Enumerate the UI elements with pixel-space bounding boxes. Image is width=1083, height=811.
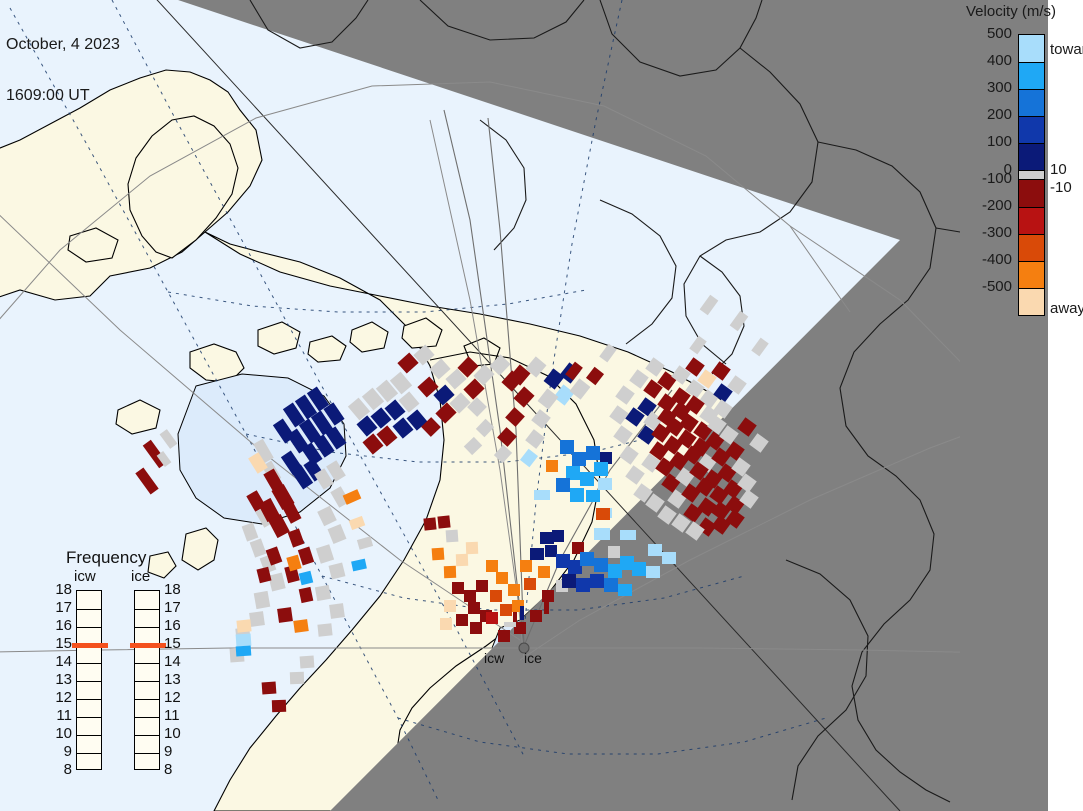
velocity-cell [608, 546, 620, 558]
velocity-cell [496, 572, 508, 584]
velocity-cell [290, 672, 304, 684]
colorbar-tick-neg200: -200 [966, 197, 1012, 214]
frequency-marker-ice [130, 643, 166, 648]
velocity-cell [520, 560, 532, 572]
frequency-tick-line [135, 681, 159, 682]
velocity-cell [470, 622, 482, 634]
velocity-cell [545, 545, 557, 557]
velocity-cell [508, 584, 520, 596]
velocity-cell [476, 580, 488, 592]
velocity-cell [568, 560, 582, 574]
velocity-cell [262, 682, 277, 695]
velocity-cell [556, 478, 570, 492]
velocity-cell [538, 566, 550, 578]
frequency-tick-line [77, 609, 101, 610]
colorbar-segment-0 [1019, 35, 1044, 62]
colorbar-segment-7 [1019, 207, 1044, 234]
frequency-tick-line [77, 627, 101, 628]
velocity-cell [444, 566, 456, 578]
velocity-cell [546, 460, 558, 472]
colorbar-tick-neg300: -300 [966, 224, 1012, 241]
frequency-tick-line [135, 699, 159, 700]
velocity-cell [236, 645, 252, 656]
frequency-scale-label-icw: 17 [50, 599, 72, 616]
frequency-marker-icw [72, 643, 108, 648]
colorbar-tick-neg100: -100 [966, 170, 1012, 187]
frequency-scale-label-icw: 13 [50, 671, 72, 688]
title-time: 1609:00 UT [6, 87, 120, 104]
velocity-cell [440, 618, 452, 630]
colorbar-segment-6 [1019, 179, 1044, 206]
colorbar-segment-10 [1019, 288, 1044, 315]
velocity-cell [277, 607, 293, 623]
superdarn-velocity-map: October, 4 2023 1609:00 UT icw ice Frequ… [0, 0, 1083, 811]
colorbar-segment-5 [1019, 170, 1044, 179]
velocity-cell [576, 578, 590, 592]
frequency-scale-label-icw: 18 [50, 581, 72, 598]
colorbar-segment-9 [1019, 261, 1044, 288]
frequency-scale-label-ice: 10 [164, 725, 181, 742]
velocity-cell [620, 530, 636, 540]
site-label-ice: ice [524, 650, 542, 666]
colorbar-tick-neg500: -500 [966, 278, 1012, 295]
frequency-tick-line [77, 735, 101, 736]
frequency-tick-line [77, 681, 101, 682]
frequency-scale-label-ice: 13 [164, 671, 181, 688]
frequency-bar-label-icw: icw [74, 568, 96, 585]
colorbar-negative-threshold-label: -10 [1050, 179, 1072, 196]
plot-title: October, 4 2023 1609:00 UT [6, 2, 120, 138]
colorbar-tick-300: 300 [966, 79, 1012, 96]
colorbar-tick-100: 100 [966, 133, 1012, 150]
frequency-scale-label-icw: 15 [50, 635, 72, 652]
frequency-tick-line [77, 753, 101, 754]
velocity-cell [560, 440, 574, 454]
title-date: October, 4 2023 [6, 36, 120, 53]
velocity-cell [662, 552, 676, 564]
velocity-cell [542, 590, 554, 602]
velocity-cell [456, 554, 468, 566]
velocity-cell [632, 562, 646, 576]
colorbar-segment-4 [1019, 143, 1044, 170]
velocity-cell [598, 478, 612, 490]
frequency-scale-label-icw: 12 [50, 689, 72, 706]
frequency-bar-icw [76, 590, 102, 770]
velocity-cell [594, 462, 608, 476]
velocity-cell [329, 603, 345, 619]
frequency-tick-line [135, 753, 159, 754]
colorbar-title: Velocity (m/s) [966, 3, 1083, 20]
velocity-cell [437, 515, 450, 528]
frequency-tick-line [135, 717, 159, 718]
velocity-cell [466, 542, 478, 554]
frequency-scale-label-ice: 11 [164, 707, 180, 724]
frequency-scale-label-ice: 17 [164, 599, 181, 616]
velocity-cell [562, 574, 576, 588]
frequency-scale-label-icw: 11 [50, 707, 72, 724]
frequency-scale-label-icw: 10 [50, 725, 72, 742]
velocity-cell [556, 554, 570, 568]
frequency-scale-label-ice: 18 [164, 581, 181, 598]
frequency-scale-label-ice: 9 [164, 743, 172, 760]
frequency-legend-title: Frequency [66, 548, 146, 568]
velocity-cell [604, 578, 618, 592]
velocity-cell [254, 591, 271, 609]
frequency-scale-label-icw: 8 [50, 761, 72, 778]
velocity-cell [432, 548, 445, 561]
frequency-scale-label-ice: 16 [164, 617, 181, 634]
velocity-cell [498, 630, 510, 642]
velocity-cell [586, 490, 600, 502]
velocity-cell [620, 556, 634, 570]
velocity-cell [500, 604, 512, 616]
velocity-cell [423, 517, 436, 530]
velocity-cell [566, 466, 580, 480]
frequency-scale-label-ice: 14 [164, 653, 181, 670]
velocity-cell [249, 611, 265, 627]
frequency-scale-label-icw: 9 [50, 743, 72, 760]
frequency-scale-label-ice: 15 [164, 635, 181, 652]
velocity-cell [272, 700, 286, 712]
frequency-tick-line [77, 717, 101, 718]
frequency-tick-line [77, 663, 101, 664]
velocity-cell [594, 528, 610, 540]
frequency-tick-line [77, 699, 101, 700]
velocity-cell [570, 488, 584, 502]
velocity-cell [490, 590, 502, 602]
velocity-cell [446, 530, 459, 543]
frequency-scale-label-ice: 12 [164, 689, 181, 706]
colorbar-tick-400: 400 [966, 52, 1012, 69]
velocity-cell [236, 619, 251, 632]
velocity-cell [580, 472, 594, 486]
velocity-cell [586, 446, 600, 460]
velocity-cell [315, 585, 331, 601]
colorbar-tick-neg400: -400 [966, 251, 1012, 268]
frequency-tick-line [135, 627, 159, 628]
colorbar-tick-200: 200 [966, 106, 1012, 123]
velocity-cell [540, 532, 554, 544]
velocity-cell [468, 602, 480, 614]
colorbar-away-label: away [1050, 300, 1083, 317]
velocity-cell [530, 548, 544, 560]
frequency-bar-ice [134, 590, 160, 770]
velocity-cell [456, 614, 468, 626]
frequency-tick-line [135, 609, 159, 610]
colorbar[interactable] [1018, 34, 1045, 316]
right-margin-background [1048, 0, 1083, 811]
velocity-cell [236, 633, 252, 646]
velocity-cell [452, 582, 464, 594]
velocity-cell [464, 590, 476, 602]
velocity-cell [572, 452, 586, 466]
velocity-cell [293, 619, 309, 633]
frequency-tick-line [135, 663, 159, 664]
velocity-cell [646, 566, 660, 578]
colorbar-segment-2 [1019, 89, 1044, 116]
velocity-cell [590, 574, 604, 588]
velocity-cell [486, 560, 498, 572]
velocity-cell [530, 610, 542, 622]
colorbar-toward-label: toward [1050, 41, 1083, 58]
colorbar-segment-8 [1019, 234, 1044, 261]
frequency-tick-line [135, 735, 159, 736]
velocity-cell [524, 578, 536, 590]
velocity-cell [648, 544, 662, 556]
frequency-scale-label-ice: 8 [164, 761, 172, 778]
frequency-scale-label-icw: 14 [50, 653, 72, 670]
velocity-cell [317, 623, 332, 636]
colorbar-tick-500: 500 [966, 25, 1012, 42]
map-panel[interactable]: October, 4 2023 1609:00 UT icw ice Frequ… [0, 0, 1048, 811]
colorbar-segment-1 [1019, 62, 1044, 89]
velocity-cell [444, 600, 456, 612]
frequency-legend: Frequency icw ice 18171615141312111098 1… [56, 548, 196, 793]
velocity-cell [580, 552, 594, 566]
velocity-cell [534, 490, 550, 500]
colorbar-segment-3 [1019, 116, 1044, 143]
velocity-cell [608, 564, 622, 578]
velocity-cell [486, 612, 498, 624]
frequency-scale-label-icw: 16 [50, 617, 72, 634]
velocity-cell [300, 656, 315, 669]
frequency-bar-label-ice: ice [131, 568, 150, 585]
velocity-cell [618, 584, 632, 596]
velocity-cell [594, 558, 608, 572]
colorbar-positive-threshold-label: 10 [1050, 161, 1067, 178]
velocity-cell [596, 508, 610, 520]
site-label-icw: icw [484, 650, 504, 666]
